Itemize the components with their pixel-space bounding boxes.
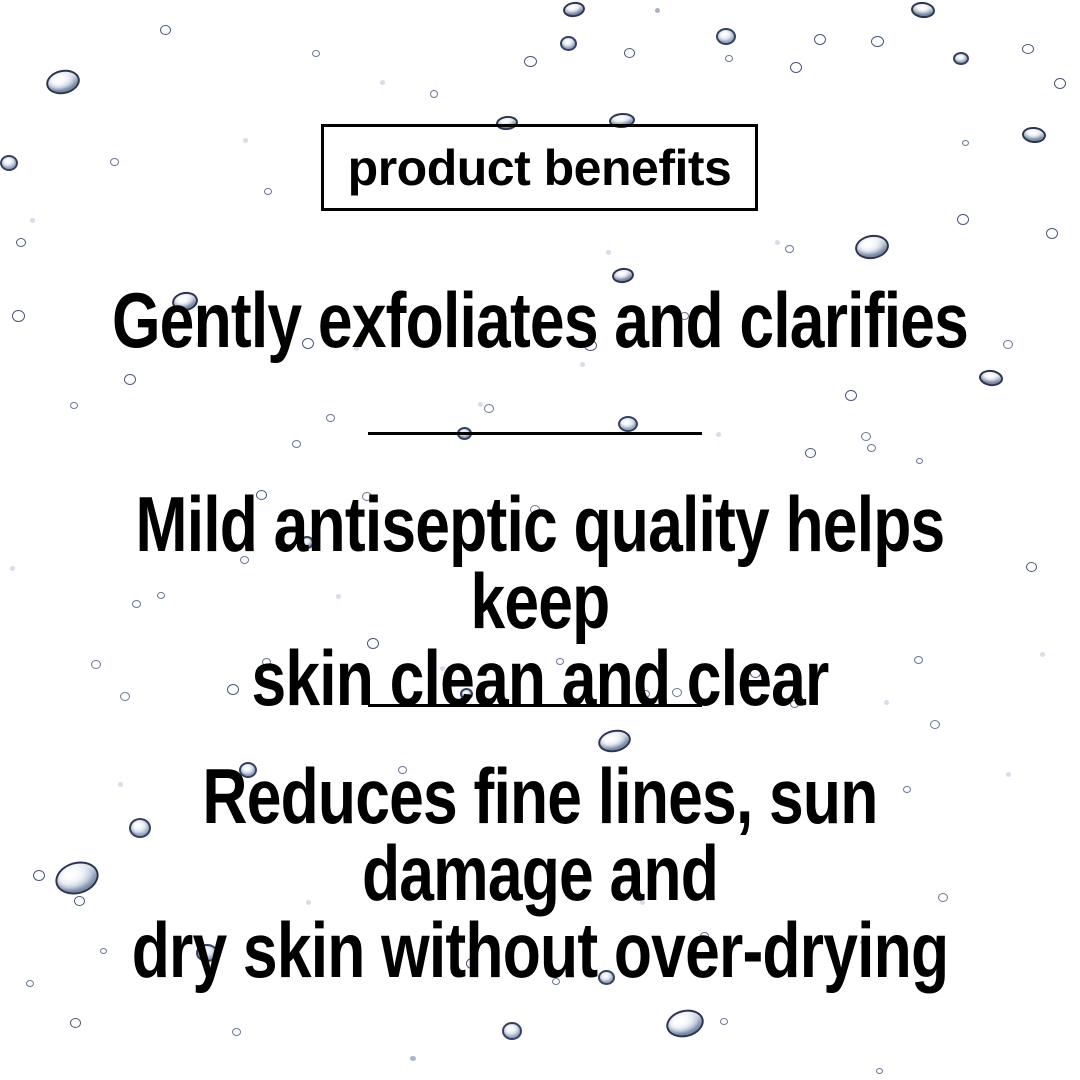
- benefit-divider-2: [368, 704, 702, 707]
- section-title-box: product benefits: [321, 124, 758, 211]
- benefit-line-3: Reduces fine lines, sun damage and dry s…: [108, 758, 972, 990]
- product-benefits-graphic: product benefits Gently exfoliates and c…: [0, 0, 1080, 1080]
- content-layer: product benefits Gently exfoliates and c…: [0, 0, 1080, 1080]
- benefit-line-1: Gently exfoliates and clarifies: [108, 282, 972, 359]
- benefit-line-2: Mild antiseptic quality helps keep skin …: [108, 486, 972, 718]
- page-title: product benefits: [348, 143, 732, 193]
- benefit-divider-1: [368, 432, 702, 435]
